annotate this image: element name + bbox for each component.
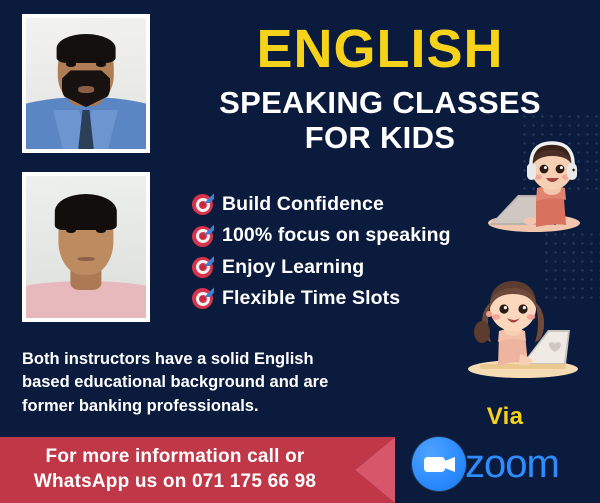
contact-line-2: WhatsApp us on 071 175 66 98 [34,470,316,495]
contact-banner-text: For more information call or WhatsApp us… [0,437,350,503]
zoom-wordmark: zoom [465,444,559,484]
target-icon [192,226,213,247]
girl-with-laptop-illustration [462,268,584,380]
feature-list: Build Confidence 100% focus on speaking … [192,193,451,319]
instructor-description: Both instructors have a solid English ba… [22,348,362,418]
headline-block: ENGLISH SPEAKING CLASSES FOR KIDS [170,22,590,155]
target-icon [192,288,213,309]
video-camera-icon [412,437,466,491]
instructor-photo-1 [22,14,150,153]
target-icon [192,194,213,215]
english-classes-flyer: ENGLISH SPEAKING CLASSES FOR KIDS Build … [0,0,600,503]
list-item: Enjoy Learning [192,256,451,279]
contact-line-1: For more information call or [46,445,305,470]
list-item: Flexible Time Slots [192,287,451,310]
list-item: 100% focus on speaking [192,224,451,247]
via-label: Via [430,403,580,431]
feature-label: Build Confidence [222,193,384,216]
subtitle-line-1: SPEAKING CLASSES [170,86,590,121]
instructor-photo-2 [22,172,150,322]
feature-label: 100% focus on speaking [222,224,451,247]
feature-label: Enjoy Learning [222,256,364,279]
boy-with-headphones-laptop-illustration [478,139,586,234]
page-title: ENGLISH [170,22,590,76]
list-item: Build Confidence [192,193,451,216]
target-icon [192,257,213,278]
zoom-logo: zoom [412,437,559,491]
feature-label: Flexible Time Slots [222,287,400,310]
